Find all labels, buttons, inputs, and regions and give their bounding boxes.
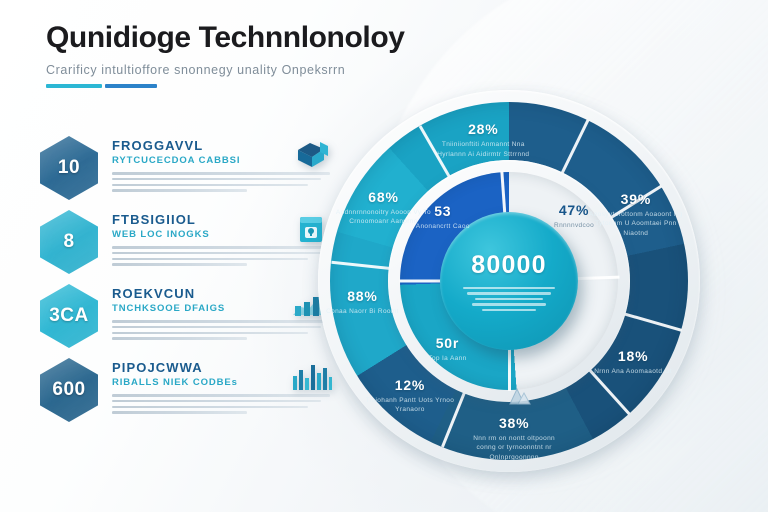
list-item[interactable]: 600PIPOJCWWARIBALLS NIEK CODBEs: [40, 354, 330, 428]
badge-hexagon-wrap: 3CA: [40, 280, 102, 348]
page-title: Qunidioge Technnlonoloy: [46, 22, 476, 54]
center-caption-lines: [461, 287, 557, 311]
badge-number: 8: [63, 231, 74, 253]
badge-number: 3CA: [49, 305, 89, 327]
badge-hexagon: 10: [40, 136, 98, 200]
badge-hexagon-wrap: 10: [40, 132, 102, 200]
list-item[interactable]: 8FTBSIGIIOLWEB LOC INOGKS: [40, 206, 330, 280]
list-item-body-lines: [112, 246, 330, 266]
badge-number: 600: [52, 379, 85, 401]
page-subtitle: Crarificy intultioffore snonnegy unality…: [46, 63, 476, 77]
list-item[interactable]: 3CAROEKVCUNTNCHKSOOE DFAIGS: [40, 280, 330, 354]
badge-hexagon: 3CA: [40, 284, 98, 348]
badge-hexagon: 8: [40, 210, 98, 274]
badge-hexagon-wrap: 600: [40, 354, 102, 422]
chart-mini-icon: [504, 380, 534, 410]
list-item[interactable]: 10FROGGAVVLRYTCUCECDOA CABBSI: [40, 132, 330, 206]
infographic-canvas: Qunidioge Technnlonoloy Crarificy intult…: [0, 0, 768, 512]
badge-number: 10: [58, 157, 80, 179]
title-underline: [46, 84, 476, 88]
list-item-body-lines: [112, 394, 330, 414]
feature-list: 10FROGGAVVLRYTCUCECDOA CABBSI8FTBSIGIIOL…: [40, 132, 330, 428]
center-hub: 80000: [440, 212, 578, 350]
badge-hexagon-wrap: 8: [40, 206, 102, 274]
list-item-body-lines: [112, 320, 330, 340]
list-item-body-lines: [112, 172, 330, 192]
badge-hexagon: 600: [40, 358, 98, 422]
header: Qunidioge Technnlonoloy Crarificy intult…: [46, 22, 476, 88]
center-value: 80000: [471, 251, 547, 280]
donut-chart: 80000 28%Tniiniionftiti Anmannt Nna Hyrl…: [316, 88, 716, 488]
